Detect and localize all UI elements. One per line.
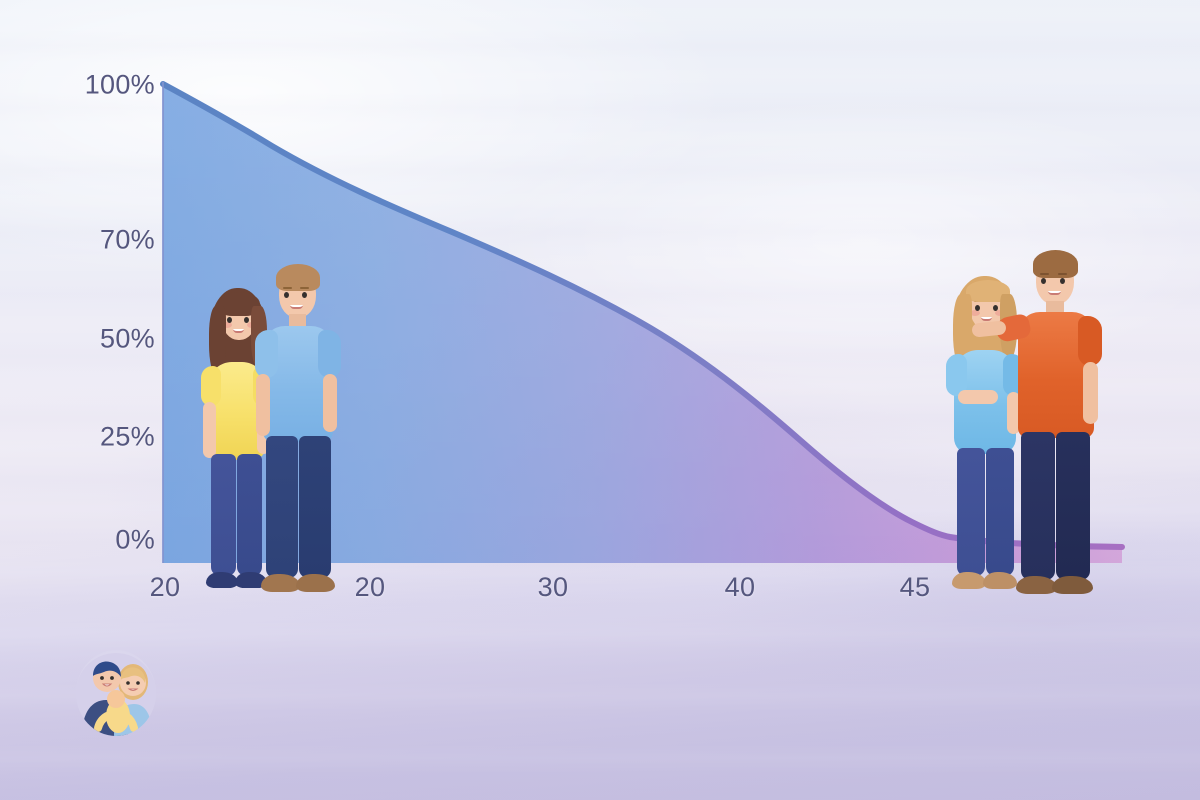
y-tick-label-50: 50% — [100, 324, 155, 355]
forearm-right — [1083, 362, 1098, 424]
x-tick-label-20: 20 — [355, 572, 386, 603]
eye-left — [227, 317, 232, 323]
eye-left — [284, 292, 289, 298]
brow-right — [300, 287, 309, 289]
x-tick-label-30: 30 — [538, 572, 569, 603]
young-couple-illustration — [196, 262, 346, 594]
brow-right — [1058, 273, 1067, 275]
leg-left — [957, 448, 985, 576]
brow-left — [1040, 273, 1049, 275]
eye-right — [1060, 278, 1065, 284]
leg-left — [211, 454, 236, 576]
forearm-right — [323, 374, 337, 432]
leg-left — [1021, 432, 1055, 580]
y-tick-label-25: 25% — [100, 422, 155, 453]
older-man-figure — [1006, 252, 1106, 594]
forearm-left — [256, 374, 270, 436]
sleeve-left — [255, 330, 278, 378]
x-tick-label-40: 40 — [725, 572, 756, 603]
infographic-canvas: 100% 70% 50% 25% 0% 20 20 30 40 45 — [0, 0, 1200, 800]
young-man-figure — [252, 262, 344, 594]
leg-right — [299, 436, 331, 578]
x-tick-label-45: 45 — [900, 572, 931, 603]
eye-left — [975, 305, 980, 311]
eye-left — [1041, 278, 1046, 284]
eye-right — [993, 305, 998, 311]
forearm-left — [203, 402, 216, 458]
shoe-left — [206, 572, 238, 588]
mouth — [290, 305, 303, 309]
sleeve-right — [1078, 316, 1102, 366]
brow-left — [283, 287, 292, 289]
older-couple-illustration — [940, 252, 1110, 594]
shoe-right — [1052, 576, 1093, 594]
mouth — [1048, 291, 1061, 295]
forearm-left — [958, 390, 998, 404]
sleeve-right — [318, 330, 341, 378]
eye-right — [302, 292, 307, 298]
y-tick-label-70: 70% — [100, 225, 155, 256]
leg-left — [266, 436, 298, 578]
sleeve-left — [201, 366, 221, 406]
shoe-right — [296, 574, 335, 592]
shoe-left — [1016, 576, 1057, 594]
y-tick-label-100: 100% — [85, 70, 155, 101]
x-tick-label-origin: 20 — [150, 572, 181, 603]
shoe-left — [261, 574, 300, 592]
leg-right — [1056, 432, 1090, 580]
caption-block: Fertility declines gradually with age – … — [0, 648, 1200, 788]
y-tick-label-0: 0% — [115, 525, 155, 556]
eye-right — [244, 317, 249, 323]
shoe-left — [952, 572, 986, 589]
